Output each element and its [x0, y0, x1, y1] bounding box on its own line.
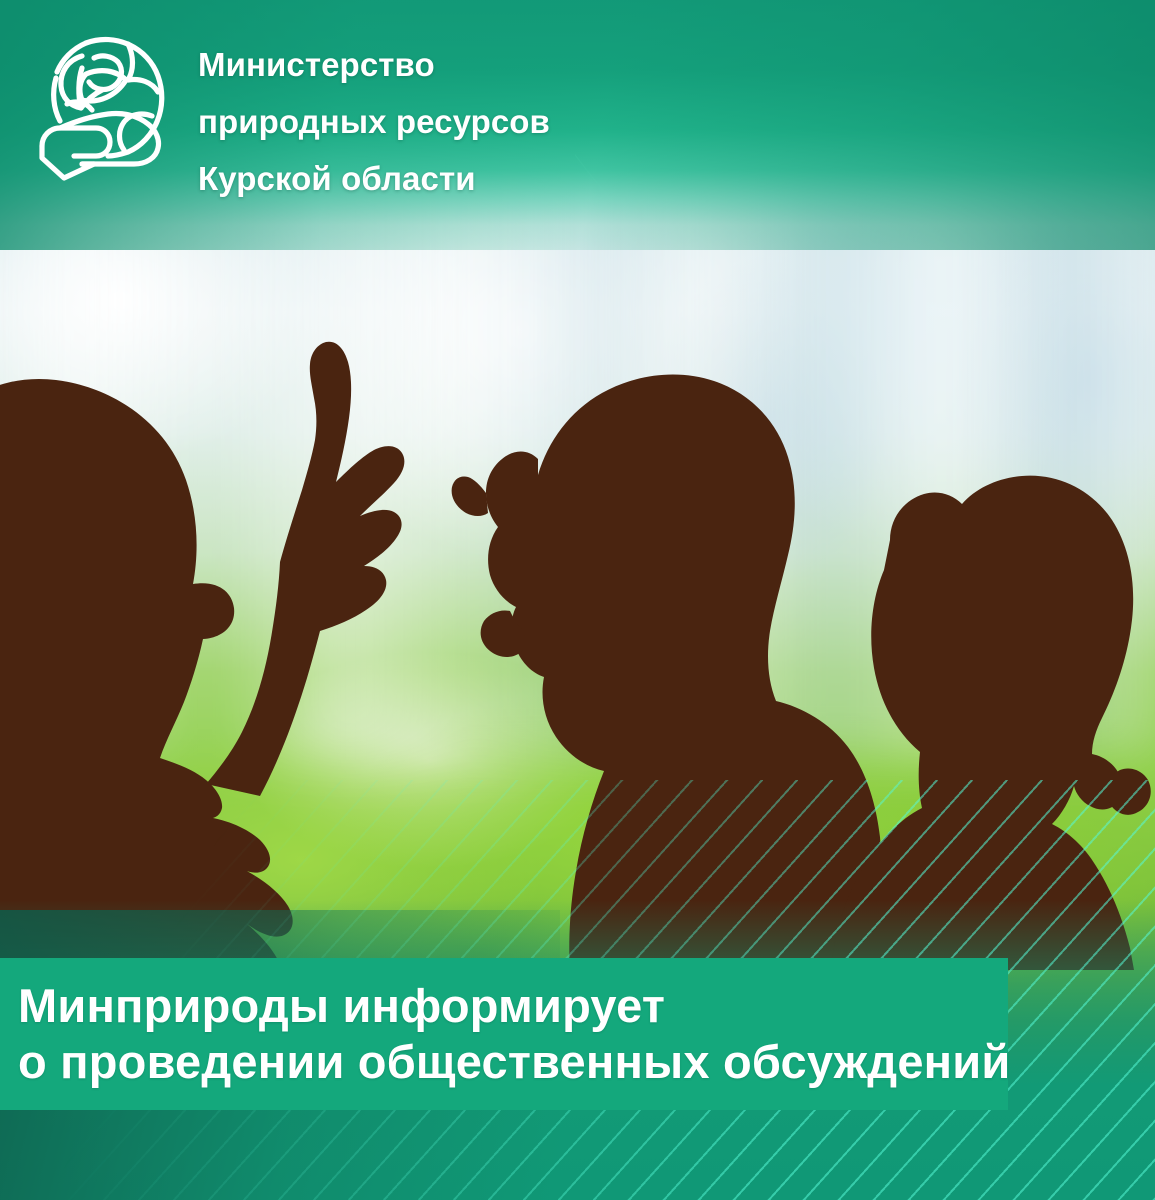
- announcement-line-2: о проведении общественных обсуждений: [18, 1034, 1008, 1090]
- globe-leaf-in-hand-logo-icon: [34, 30, 176, 182]
- ministry-title: Министерство природных ресурсов Курской …: [198, 30, 550, 201]
- ministry-title-line-3: Курской области: [198, 144, 550, 201]
- poster-root: Министерство природных ресурсов Курской …: [0, 0, 1155, 1200]
- ministry-title-line-1: Министерство: [198, 30, 550, 87]
- ministry-title-line-2: природных ресурсов: [198, 87, 550, 144]
- curved-mesh-ornament: [575, 0, 1155, 290]
- announcement-line-1: Минприроды информирует: [18, 978, 1008, 1034]
- ministry-logo-block: Министерство природных ресурсов Курской …: [34, 30, 550, 201]
- announcement-banner: Минприроды информирует о проведении обще…: [0, 958, 1008, 1110]
